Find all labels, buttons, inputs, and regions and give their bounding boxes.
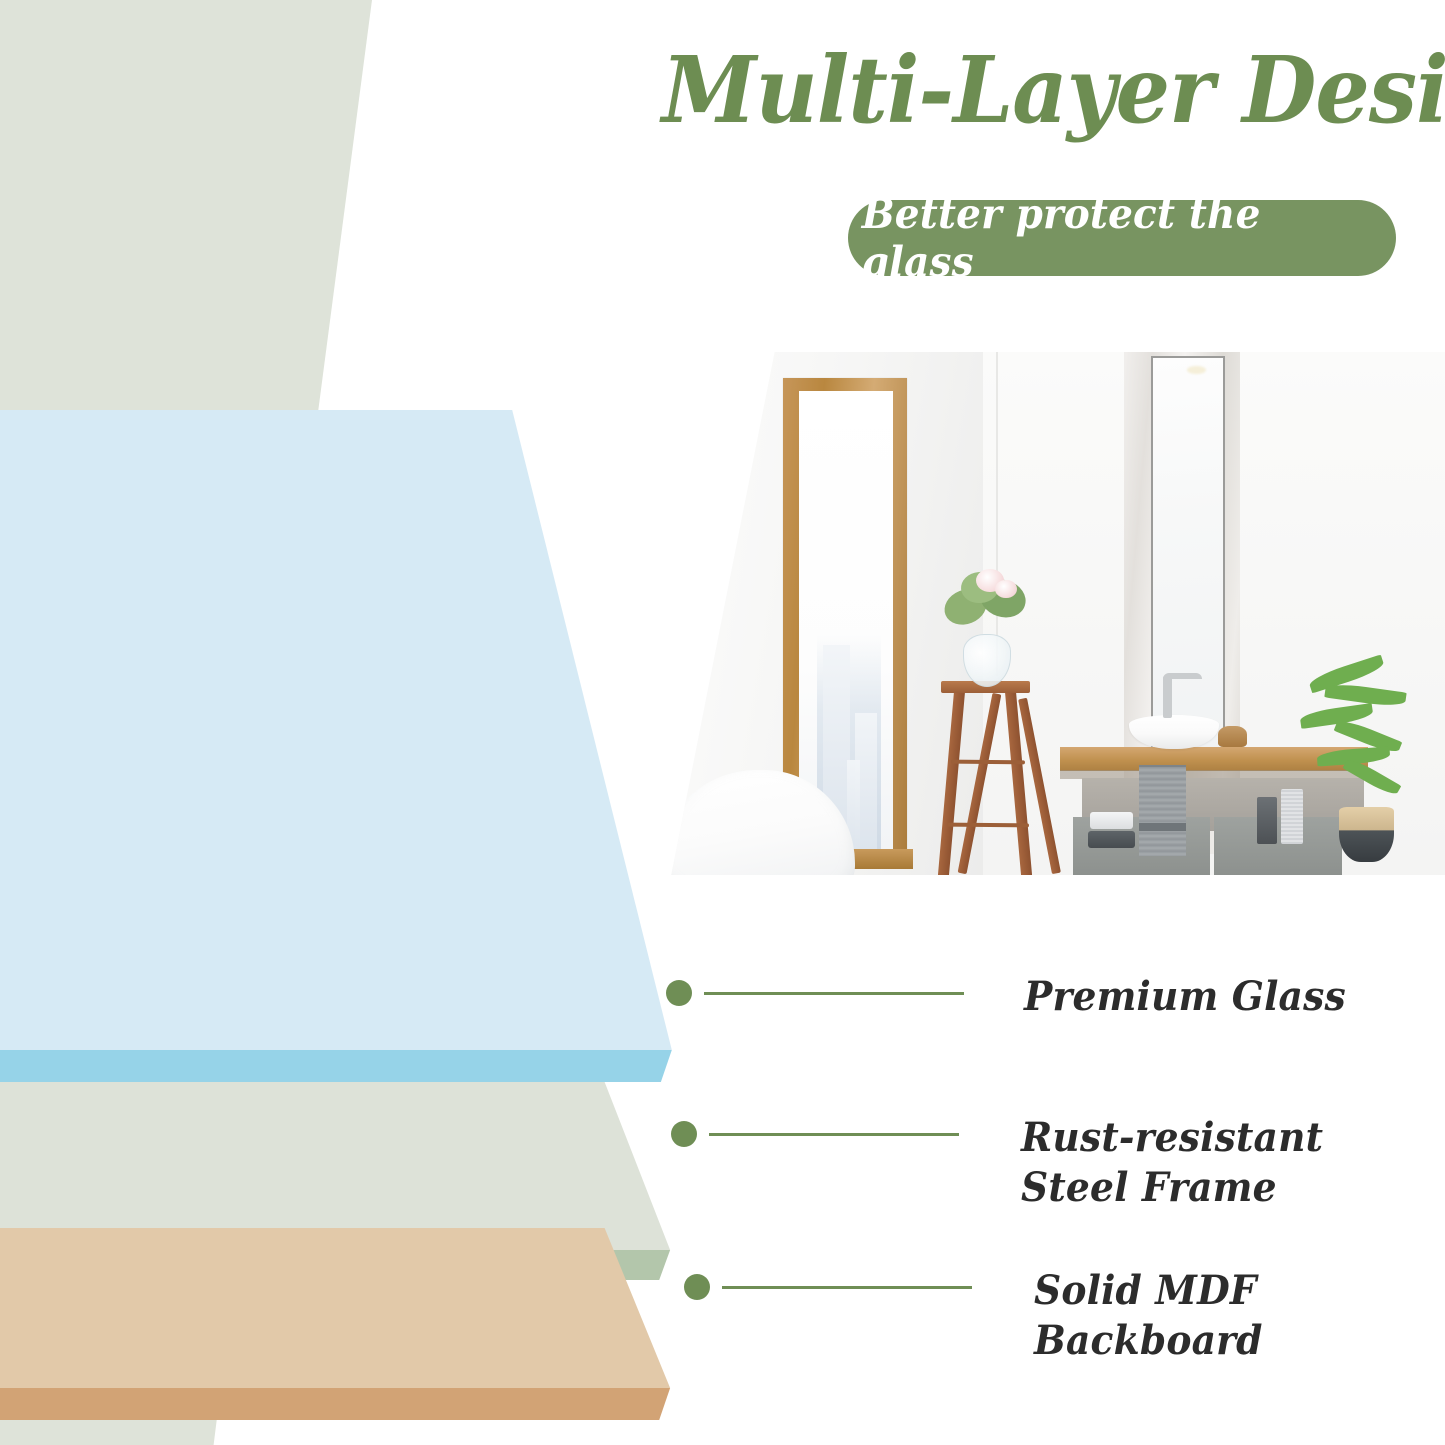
layer-premium-glass (0, 410, 760, 1050)
status-badge-label: Better protect the glass (862, 190, 1383, 286)
callout-steel-frame: Rust-resistant Steel Frame (665, 1113, 1421, 1213)
callout-dot-icon (678, 1268, 716, 1306)
photo-plant-pot (1339, 807, 1394, 862)
layer-mdf-backboard (0, 1228, 760, 1388)
page-title: Multi-Layer Design (662, 42, 1415, 139)
callout-premium-glass: Premium Glass (660, 972, 1366, 1022)
photo-rolled-towel (1088, 831, 1134, 849)
callout-mdf-backboard: Solid MDF Backboard (678, 1266, 1445, 1366)
callout-leader-line (722, 1286, 972, 1289)
layer-stack-diagram (0, 0, 820, 1445)
callout-leader-line (704, 992, 964, 995)
photo-wall-corner (996, 352, 998, 676)
callout-label-mdf-backboard: Solid MDF Backboard (1034, 1266, 1420, 1366)
photo-rolled-towel (1090, 812, 1133, 829)
photo-ceiling-light (1187, 366, 1206, 374)
layer-mdf-edge (0, 1388, 760, 1420)
photo-hanging-towel (1139, 765, 1186, 856)
photo-stool-rung (947, 822, 1029, 827)
photo-toiletry-bottle (1281, 789, 1303, 844)
callout-label-premium-glass: Premium Glass (1024, 972, 1346, 1022)
layer-steel-frame (0, 1082, 760, 1250)
photo-faucet-arm (1163, 673, 1202, 679)
layer-mdf-face (0, 1228, 760, 1388)
photo-toiletry-bottle (1257, 797, 1278, 844)
status-badge: Better protect the glass (848, 200, 1396, 276)
photo-faucet (1163, 676, 1172, 718)
layer-steel-face (0, 1082, 760, 1250)
photo-towel-stripe (1139, 823, 1186, 831)
callout-dot-icon (660, 974, 698, 1012)
promo-canvas: Multi-Layer Design Better protect the gl… (0, 0, 1445, 1445)
callout-leader-line (709, 1133, 959, 1136)
callout-label-steel-frame: Rust-resistant Steel Frame (1021, 1113, 1397, 1213)
photo-vanity-cabinet (1214, 817, 1342, 875)
callout-dot-icon (665, 1115, 703, 1153)
layer-glass-edge (0, 1050, 760, 1082)
photo-stool-rung (951, 760, 1025, 765)
photo-tall-mirror (1151, 356, 1225, 757)
layer-glass-face (0, 410, 760, 1050)
photo-soap-dish (1218, 726, 1247, 747)
